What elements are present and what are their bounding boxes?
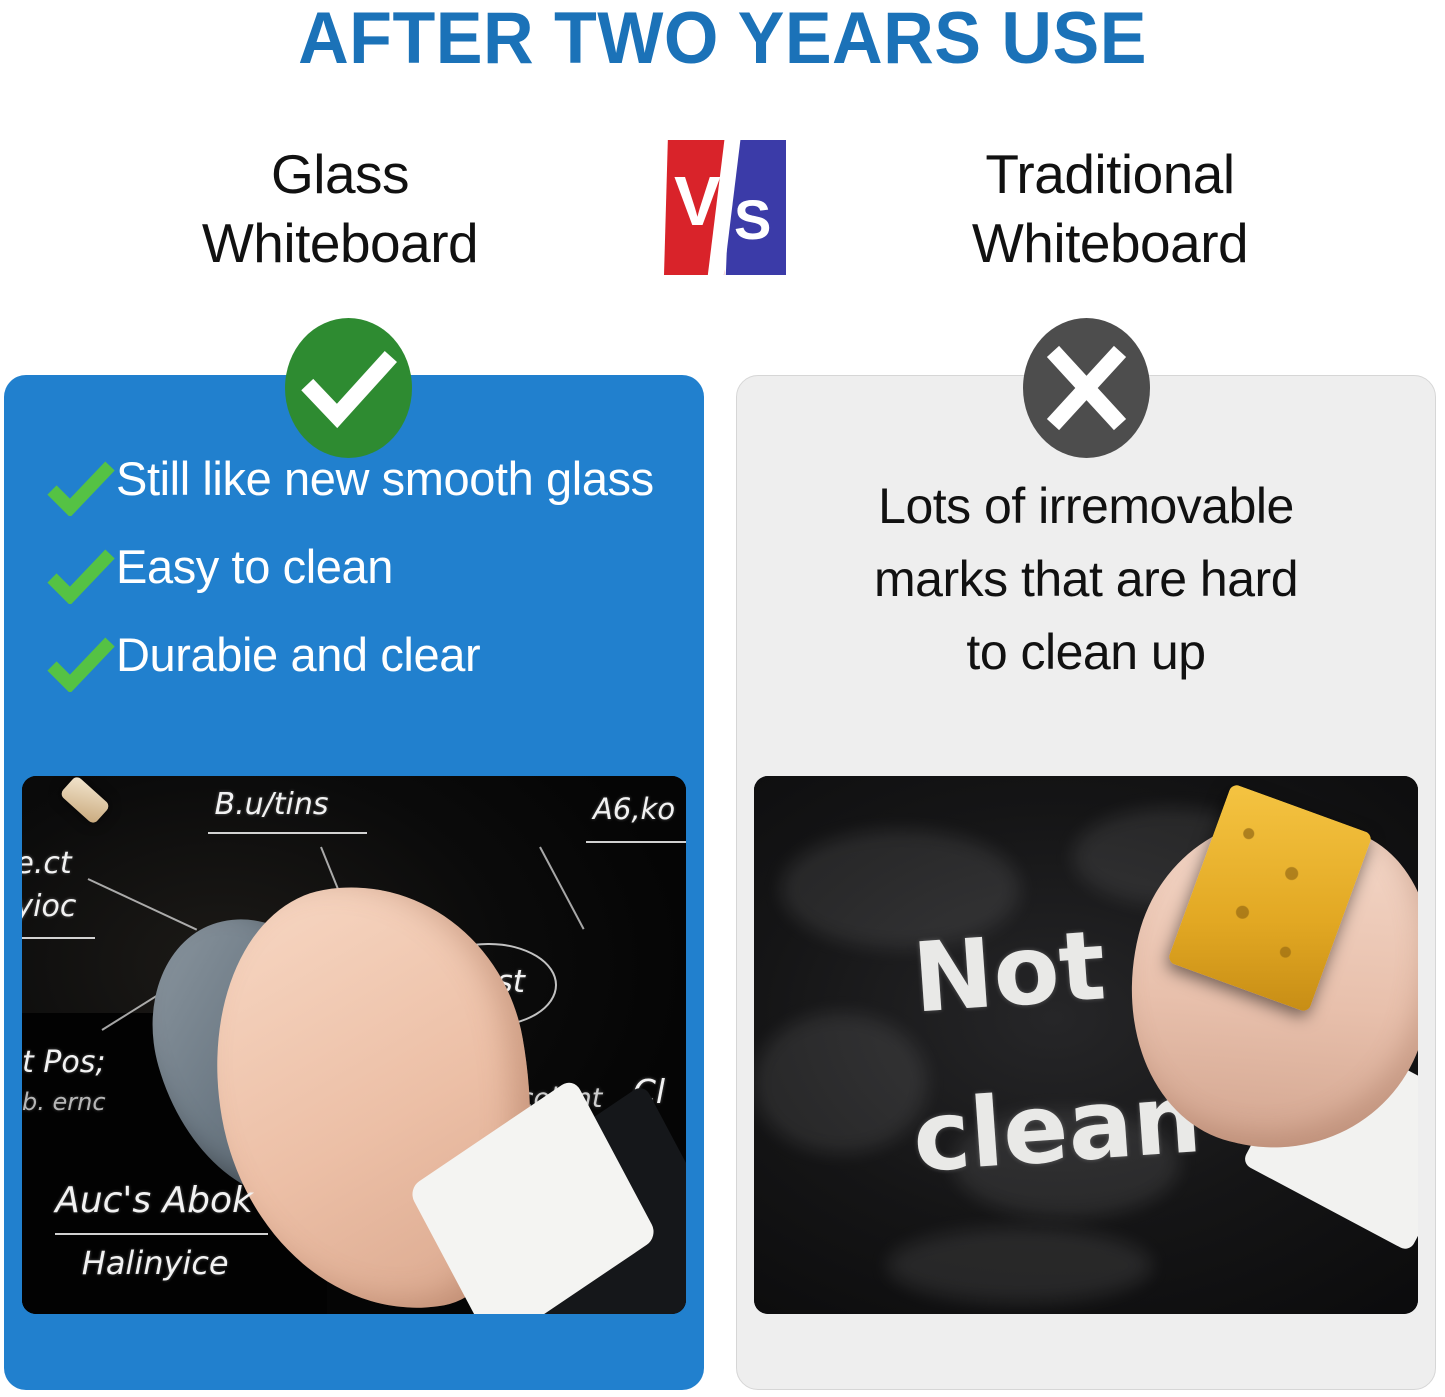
column-heading-traditional: Traditional Whiteboard — [790, 140, 1430, 278]
glass-benefits-list: Still like new smooth glass Easy to clea… — [46, 448, 676, 712]
handwriting-underline — [55, 1233, 267, 1235]
list-item: Easy to clean — [46, 536, 676, 604]
marker-tip — [59, 776, 111, 825]
handwriting-text: Halinyice — [82, 1244, 229, 1282]
list-item: Durabie and clear — [46, 624, 676, 692]
list-item-label: Easy to clean — [116, 536, 676, 598]
versus-letter-s: S — [734, 192, 771, 248]
glass-whiteboard-photo: B.u/tins A6,ko e.ct yioc ayost t Pos; b.… — [22, 776, 686, 1314]
traditional-whiteboard-photo: Not clean — [754, 776, 1418, 1314]
chalk-word-not: Not — [910, 909, 1110, 1034]
chalk-smudge — [887, 1228, 1153, 1303]
list-item-label: Durabie and clear — [116, 624, 676, 686]
column-heading-traditional-line1: Traditional — [790, 140, 1430, 209]
glass-board-surface: B.u/tins A6,ko e.ct yioc ayost t Pos; b.… — [22, 776, 686, 1314]
connector-line — [539, 846, 584, 929]
chalkboard-surface: Not clean — [754, 776, 1418, 1314]
handwriting-text: B.u/tins — [215, 787, 329, 822]
versus-letter-v: V — [674, 166, 721, 236]
check-mark-icon — [46, 548, 116, 604]
drawback-line-2: marks that are hard — [766, 543, 1406, 616]
handwriting-text: e.ct — [22, 846, 72, 881]
handwriting-text: Auc's Abok — [55, 1180, 253, 1221]
column-heading-glass: Glass Whiteboard — [20, 140, 660, 278]
handwriting-text: b. ernc — [22, 1088, 106, 1116]
column-heading-glass-line2: Whiteboard — [20, 209, 660, 278]
check-mark-icon — [46, 460, 116, 516]
page-title: AFTER TWO YEARS USE — [29, 2, 1416, 75]
traditional-drawback-text: Lots of irremovable marks that are hard … — [766, 470, 1406, 689]
handwriting-text: yioc — [22, 889, 76, 924]
connector-line — [88, 878, 197, 930]
drawback-line-1: Lots of irremovable — [766, 470, 1406, 543]
x-circle-icon — [1023, 318, 1150, 458]
column-heading-glass-line1: Glass — [20, 140, 660, 209]
versus-badge-icon: V S — [664, 140, 786, 275]
drawback-line-3: to clean up — [766, 616, 1406, 689]
column-heading-traditional-line2: Whiteboard — [790, 209, 1430, 278]
handwriting-underline — [22, 937, 95, 939]
chalk-smudge — [754, 1013, 927, 1153]
handwriting-underline — [208, 832, 367, 834]
handwriting-text: A6,ko — [593, 792, 675, 826]
handwriting-text: t Pos; — [22, 1045, 105, 1080]
list-item: Still like new smooth glass — [46, 448, 676, 516]
check-circle-icon — [285, 318, 412, 458]
check-mark-icon — [46, 636, 116, 692]
handwriting-underline — [586, 841, 686, 843]
